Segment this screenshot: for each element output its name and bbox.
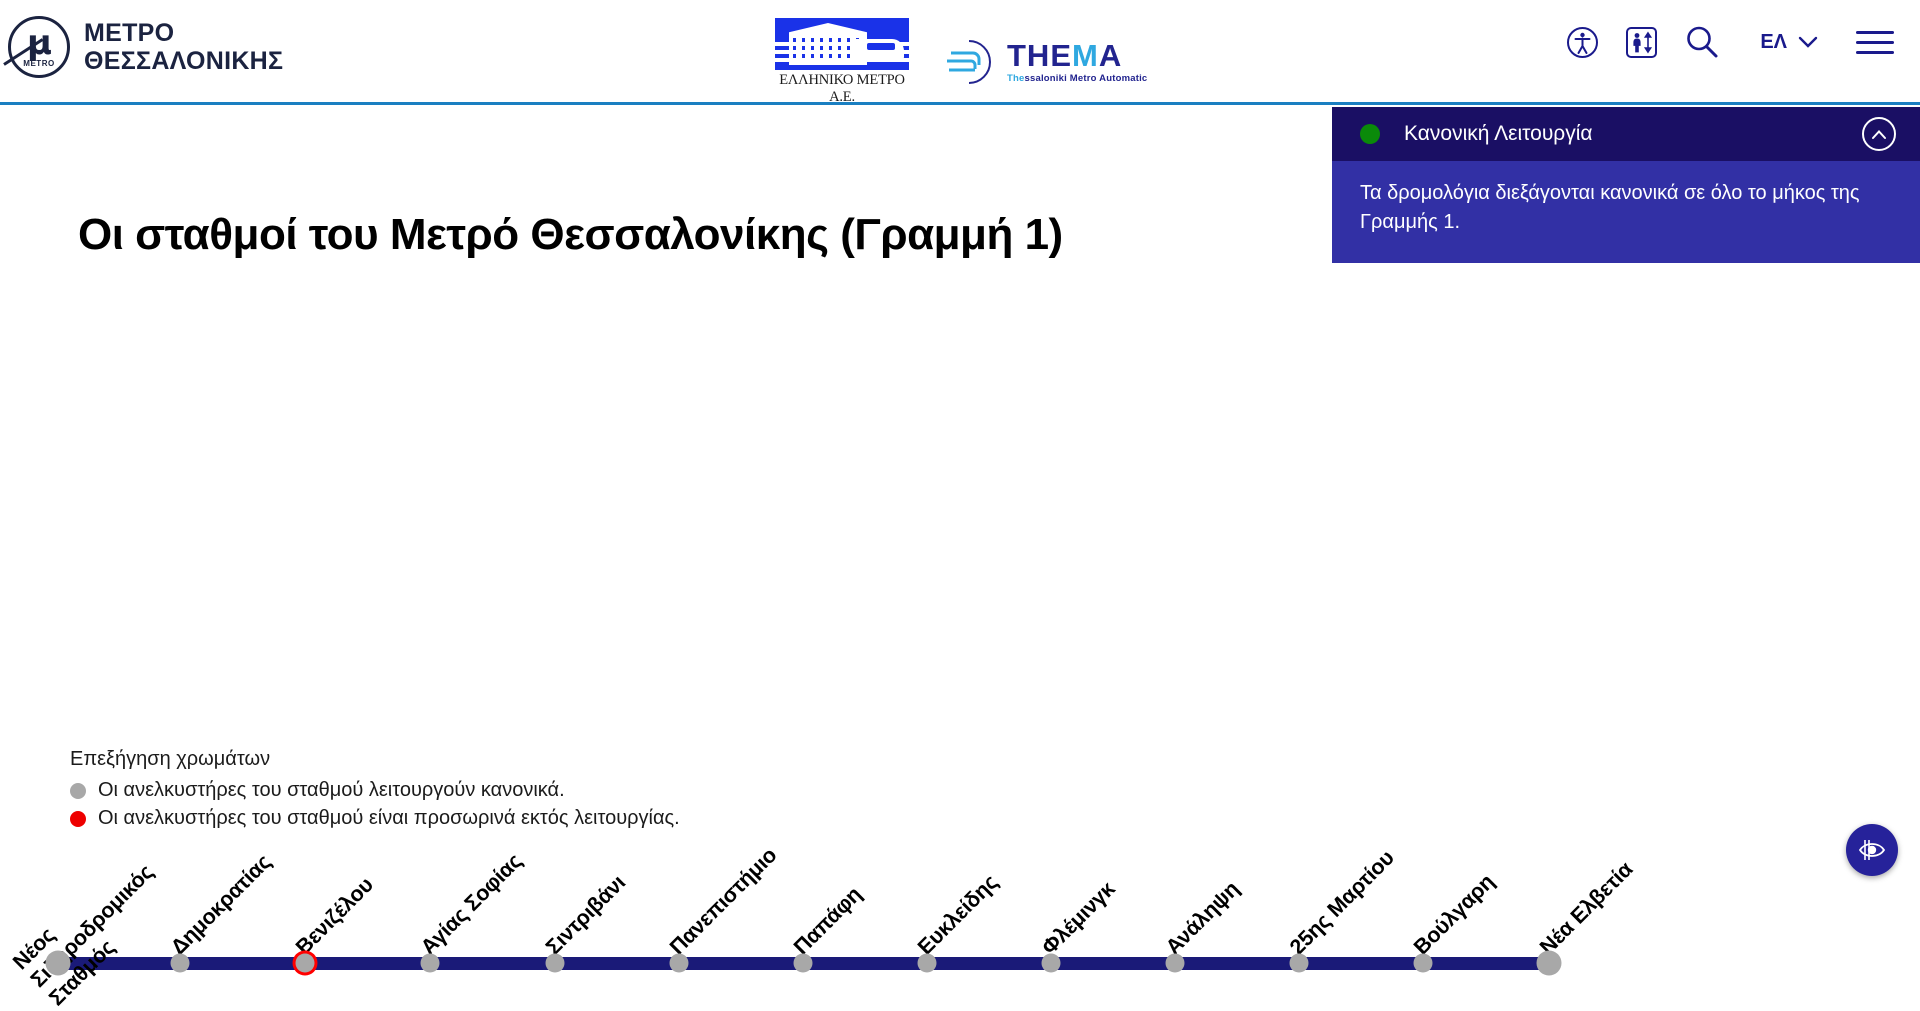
status-indicator-dot — [1360, 124, 1380, 144]
station-dot[interactable] — [1166, 954, 1185, 973]
service-status-banner: Κανονική Λειτουργία Τα δρομολόγια διεξάγ… — [1332, 107, 1920, 263]
accessibility-icon[interactable] — [1566, 26, 1599, 59]
header-actions: ΕΛ — [1566, 24, 1894, 60]
station-label: Ανάληψη — [1161, 877, 1245, 961]
station-label: Νέος Σιδηροδρομικός Σταθμός — [8, 842, 177, 1011]
legend-label: Οι ανελκυστήρες του σταθμού λειτουργούν … — [98, 779, 565, 802]
logo-metro-word: METRO — [23, 59, 54, 68]
chevron-down-icon — [1798, 36, 1818, 49]
service-status-header: Κανονική Λειτουργία — [1332, 107, 1920, 161]
metro-circle-logo-icon: μ METRO — [8, 16, 70, 78]
metro-line-diagram: Νέος Σιδηροδρομικός ΣταθμόςΔημοκρατίαςΒε… — [0, 360, 1920, 650]
legend-title: Επεξήγηση χρωμάτων — [70, 748, 680, 771]
thema-wordmark: THEMA — [1007, 40, 1147, 71]
station-dot[interactable] — [546, 954, 565, 973]
partner-logos: ΕΛΛΗΝΙΚΟ ΜΕΤΡΟ Α.Ε. THEMA Thessaloniki M… — [775, 18, 1147, 106]
elevator-icon[interactable] — [1625, 26, 1658, 59]
legend-dot — [70, 811, 86, 827]
status-message: Τα δρομολόγια διεξάγονται κανονικά σε όλ… — [1332, 161, 1920, 263]
station-dot[interactable] — [918, 954, 937, 973]
station-dot[interactable] — [1537, 951, 1562, 976]
thema-symbol-icon — [943, 37, 999, 87]
station-label: Βούλγαρη — [1409, 869, 1500, 960]
legend-item: Οι ανελκυστήρες του σταθμού λειτουργούν … — [70, 779, 680, 802]
station-dot[interactable] — [421, 954, 440, 973]
station-label: Φλέμινγκ — [1037, 877, 1121, 961]
station-label: Δημοκρατίας — [166, 850, 277, 961]
elliniko-metro-caption: ΕΛΛΗΝΙΚΟ ΜΕΤΡΟ Α.Ε. — [775, 72, 909, 106]
station-label: 25ης Μαρτίου — [1285, 846, 1400, 961]
eye-accessibility-icon — [1857, 838, 1887, 862]
station-label: Αγίας Σοφίας — [416, 849, 528, 961]
legend-label: Οι ανελκυστήρες του σταθμού είναι προσωρ… — [98, 807, 680, 830]
station-label: Πανεπιστήμιο — [665, 843, 782, 960]
thema-tagline: Thessaloniki Metro Automatic — [1007, 73, 1147, 84]
accessibility-widget-button[interactable] — [1846, 824, 1898, 876]
thema-logo[interactable]: THEMA Thessaloniki Metro Automatic — [943, 37, 1147, 87]
site-header: μ METRO ΜΕΤΡΟ ΘΕΣΣΑΛΟΝΙΚΗΣ ΕΛΛΗΝΙΚΟ ΜΕΤΡ… — [0, 0, 1920, 105]
legend-item: Οι ανελκυστήρες του σταθμού είναι προσωρ… — [70, 807, 680, 830]
hamburger-menu-icon[interactable] — [1856, 31, 1894, 54]
site-logo[interactable]: μ METRO ΜΕΤΡΟ ΘΕΣΣΑΛΟΝΙΚΗΣ — [8, 16, 283, 78]
station-dot[interactable] — [1290, 954, 1309, 973]
search-icon[interactable] — [1684, 24, 1720, 60]
legend: Επεξήγηση χρωμάτων Οι ανελκυστήρες του σ… — [70, 748, 680, 830]
brand-line-1: ΜΕΤΡΟ — [84, 19, 283, 47]
status-collapse-button[interactable] — [1862, 117, 1896, 151]
page-title: Οι σταθμοί του Μετρό Θεσσαλονίκης (Γραμμ… — [78, 210, 1063, 260]
station-dot[interactable] — [1042, 954, 1061, 973]
elliniko-metro-graphic-icon — [775, 18, 909, 70]
station-dot[interactable] — [670, 954, 689, 973]
legend-dot — [70, 783, 86, 799]
station-dot[interactable] — [171, 954, 190, 973]
station-label: Ευκλείδης — [913, 870, 1003, 960]
station-label: Βενιζέλου — [291, 873, 379, 961]
status-title: Κανονική Λειτουργία — [1404, 122, 1862, 146]
station-label: Νέα Ελβετία — [1535, 857, 1638, 960]
language-selector[interactable]: ΕΛ — [1760, 31, 1818, 54]
legend-rows: Οι ανελκυστήρες του σταθμού λειτουργούν … — [70, 779, 680, 830]
station-dot[interactable] — [296, 954, 315, 973]
language-label: ΕΛ — [1760, 31, 1787, 54]
station-dot[interactable] — [1414, 954, 1433, 973]
chevron-up-icon — [1871, 129, 1887, 140]
elliniko-metro-logo[interactable]: ΕΛΛΗΝΙΚΟ ΜΕΤΡΟ Α.Ε. — [775, 18, 909, 106]
brand-wordmark: ΜΕΤΡΟ ΘΕΣΣΑΛΟΝΙΚΗΣ — [84, 19, 283, 75]
station-label: Σιντριβάνι — [541, 870, 631, 960]
station-dot[interactable] — [794, 954, 813, 973]
station-dot[interactable] — [46, 951, 71, 976]
brand-line-2: ΘΕΣΣΑΛΟΝΙΚΗΣ — [84, 47, 283, 75]
